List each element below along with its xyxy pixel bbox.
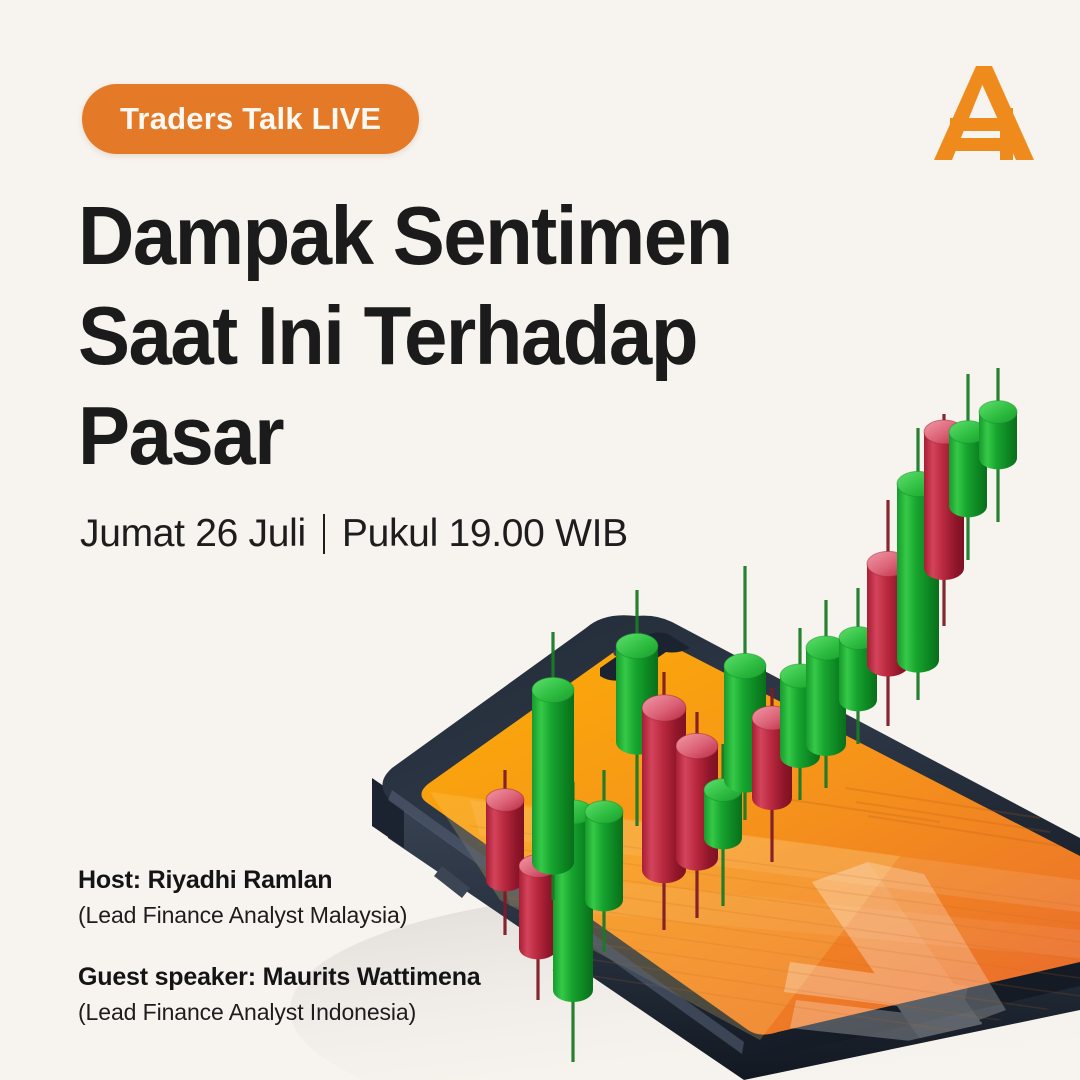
promo-poster: Traders Talk LIVE Dampak Sentimen Saat I… [0, 0, 1080, 1080]
guest-name: Guest speaker: Maurits Wattimena [78, 963, 481, 992]
host-name: Host: Riyadhi Ramlan [78, 866, 481, 895]
speaker-credits: Host: Riyadhi Ramlan (Lead Finance Analy… [78, 866, 481, 1026]
guest-role: (Lead Finance Analyst Indonesia) [78, 999, 481, 1026]
guest-credit: Guest speaker: Maurits Wattimena (Lead F… [78, 963, 481, 1026]
host-role: (Lead Finance Analyst Malaysia) [78, 902, 481, 929]
host-credit: Host: Riyadhi Ramlan (Lead Finance Analy… [78, 866, 481, 929]
